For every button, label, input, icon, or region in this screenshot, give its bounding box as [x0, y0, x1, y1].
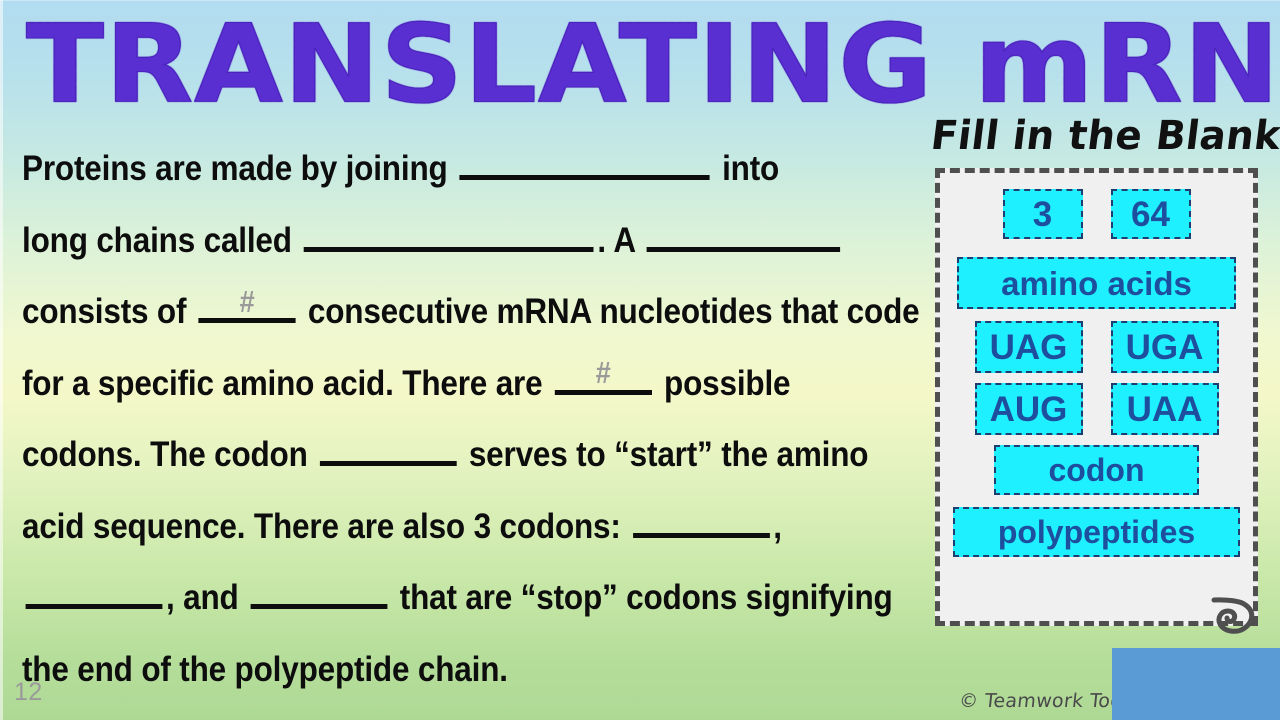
wordbank-chip[interactable]: codon: [994, 445, 1199, 495]
wordbank-chip[interactable]: 64: [1111, 189, 1191, 239]
answer-blank[interactable]: [304, 218, 594, 252]
wordbank-panel: 364amino acidsUAGUGAAUGUAAcodonpolypepti…: [935, 168, 1258, 626]
wordbank-chip[interactable]: amino acids: [957, 257, 1236, 309]
wordbank-chip[interactable]: UAG: [975, 321, 1083, 373]
wordbank-row: UAGUGA: [940, 321, 1253, 373]
paragraph-text: consists of: [22, 292, 195, 331]
wordbank-row: 364: [940, 189, 1253, 239]
wordbank-chip[interactable]: AUG: [975, 383, 1083, 435]
slide-title: TRANSLATING mRNA: [26, 2, 1256, 120]
paragraph-line: the end of the polypeptide chain.: [22, 634, 846, 706]
wordbank-chip[interactable]: 3: [1003, 189, 1083, 239]
paragraph-text: Proteins are made by joining: [22, 149, 456, 188]
paragraph-line: Proteins are made by joining into: [22, 133, 846, 205]
page-number: 12: [14, 678, 43, 707]
paragraph-text: that are “stop” codons signifying: [391, 578, 892, 617]
answer-blank[interactable]: [460, 146, 710, 180]
wordbank-heading: Fill in the Blanks...: [928, 113, 1280, 159]
paragraph-line: for a specific amino acid. There are # p…: [22, 348, 846, 420]
wordbank-chip[interactable]: polypeptides: [953, 507, 1240, 557]
wordbank-row: polypeptides: [940, 507, 1253, 557]
answer-blank[interactable]: [320, 432, 457, 466]
paragraph-line: consists of # consecutive mRNA nucleotid…: [22, 276, 846, 348]
paragraph-text: ,: [773, 507, 782, 546]
paragraph-text: serves to “start” the amino: [460, 435, 868, 474]
answer-blank[interactable]: [647, 218, 840, 252]
answer-blank[interactable]: [251, 575, 388, 609]
paragraph-text: for a specific amino acid. There are: [22, 364, 551, 403]
wordbank-chip[interactable]: UAA: [1111, 383, 1219, 435]
wordbank-row: AUGUAA: [940, 383, 1253, 435]
wordbank-row: amino acids: [940, 249, 1253, 309]
paragraph-text: consecutive mRNA nucleotides that code: [299, 292, 919, 331]
slide-title-text: TRANSLATING mRNA: [26, 2, 1280, 127]
paragraph-line: codons. The codon serves to “start” the …: [22, 419, 846, 491]
fill-in-the-blank-paragraph: Proteins are made by joining intolong ch…: [22, 133, 846, 705]
paragraph-text: into: [714, 149, 780, 188]
answer-blank[interactable]: [633, 504, 770, 538]
paragraph-line: , and that are “stop” codons signifying: [22, 562, 846, 634]
answer-blank[interactable]: #: [555, 361, 652, 395]
number-hint-icon: #: [240, 288, 255, 318]
paragraph-text: the end of the polypeptide chain.: [22, 650, 508, 689]
wordbank-chip[interactable]: UGA: [1111, 321, 1219, 373]
paragraph-text: , and: [166, 578, 247, 617]
answer-blank[interactable]: [26, 575, 163, 609]
wordbank-row: codon: [940, 445, 1253, 495]
slide-canvas: TRANSLATING mRNA Proteins are made by jo…: [0, 0, 1280, 720]
paragraph-line: acid sequence. There are also 3 codons: …: [22, 491, 846, 563]
paragraph-text: acid sequence. There are also 3 codons:: [22, 507, 629, 546]
paragraph-text: . A: [597, 221, 643, 260]
paragraph-text: long chains called: [22, 221, 300, 260]
number-hint-icon: #: [596, 359, 611, 389]
paragraph-text: possible: [655, 364, 790, 403]
paragraph-text: codons. The codon: [22, 435, 316, 474]
answer-blank[interactable]: #: [198, 289, 295, 323]
blue-corner-block: [1112, 648, 1280, 720]
paragraph-line: long chains called . A: [22, 205, 846, 277]
